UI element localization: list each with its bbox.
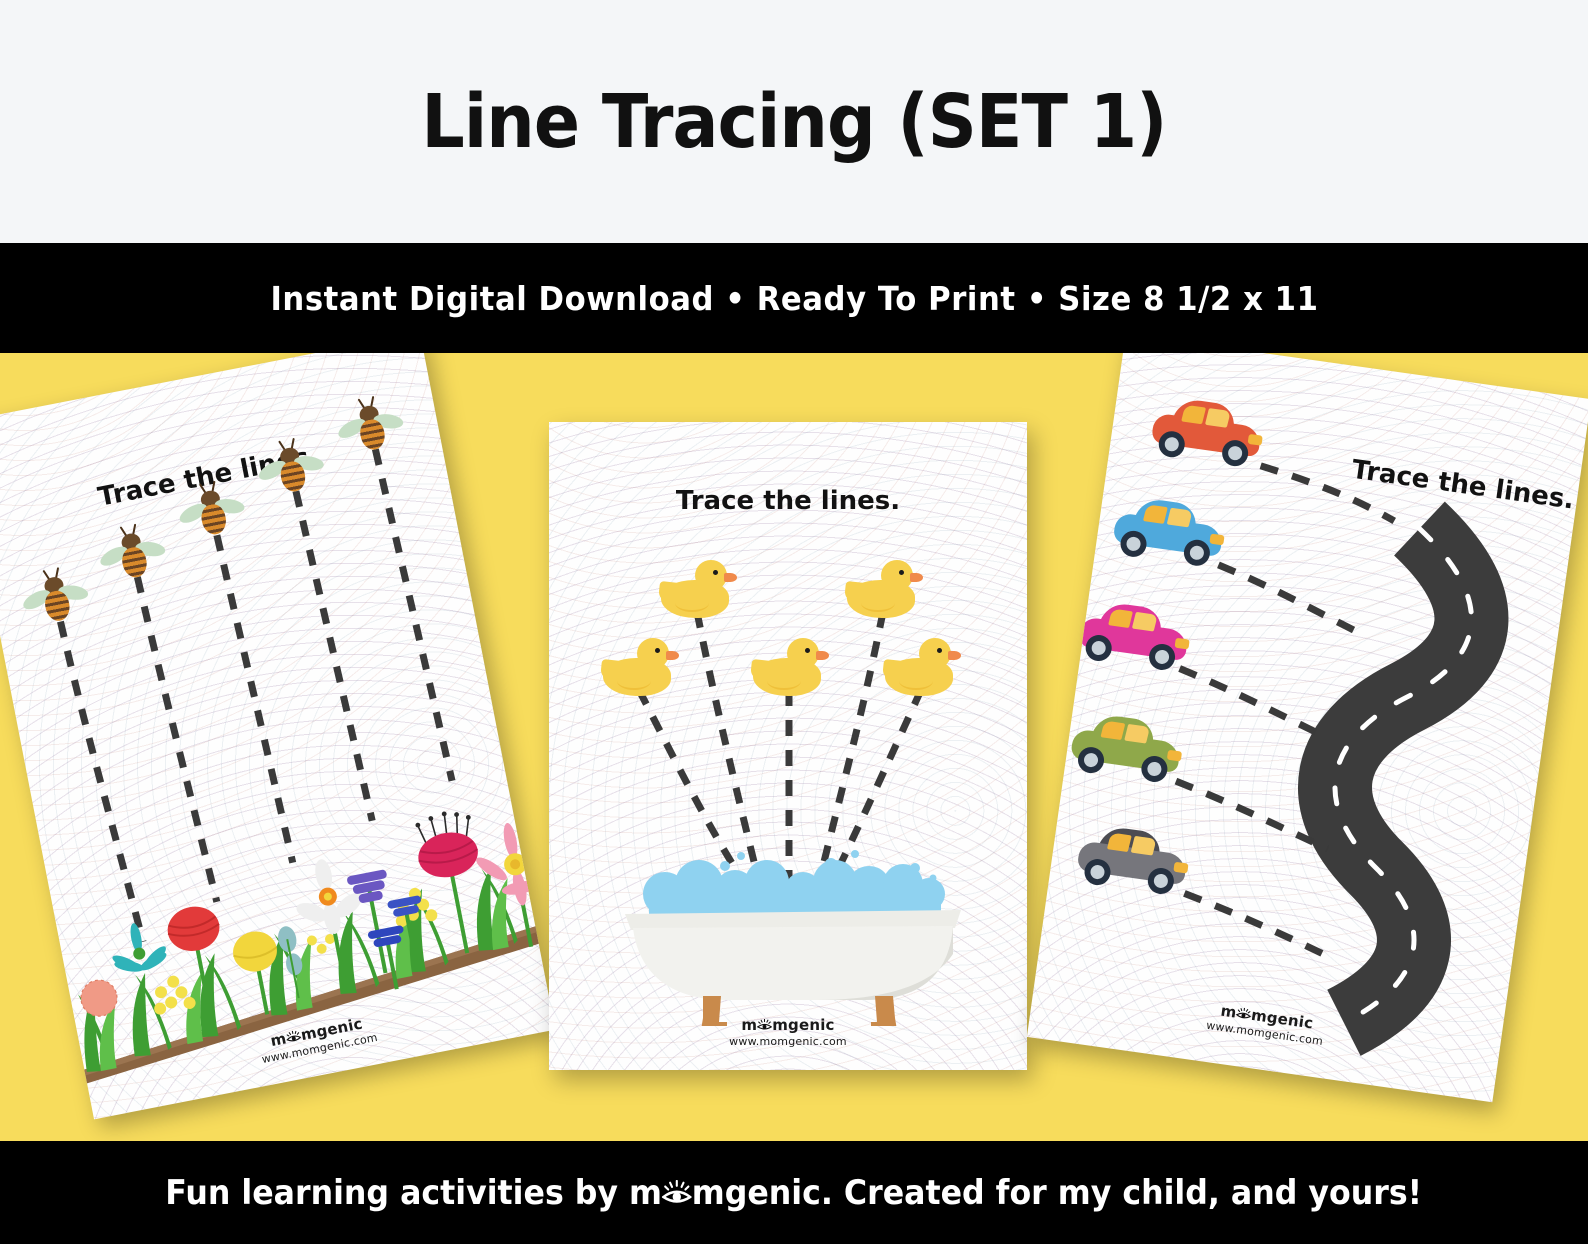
footer-text-before: Fun learning activities by m (166, 1173, 663, 1213)
duck-icon (753, 636, 827, 698)
brand-name-tail: mgenic (772, 1016, 834, 1034)
brand-name-head: m (741, 1016, 757, 1034)
footer-banner: Fun learning activities by m mgenic . Cr… (0, 1141, 1588, 1244)
eye-icon (662, 1180, 692, 1206)
eye-icon (757, 1019, 772, 1031)
duck-icon (661, 558, 735, 620)
brand-url: www.momgenic.com (549, 1035, 1027, 1048)
header-banner: Line Tracing (SET 1) (0, 0, 1588, 243)
product-listing-image: Line Tracing (SET 1) Instant Digital Dow… (0, 0, 1588, 1244)
worksheet-bees[interactable]: Trace the lines. (0, 353, 555, 1119)
page-title: Line Tracing (SET 1) (421, 79, 1166, 165)
footer-text-after: . Created for my child, and yours! (821, 1173, 1422, 1213)
duck-icon (847, 558, 921, 620)
worksheet-brand-ducks: m (549, 1015, 1027, 1048)
duck-icon (603, 636, 677, 698)
worksheet-ducks[interactable]: Trace the lines. (549, 422, 1027, 1070)
info-bar-text: Instant Digital Download • Ready To Prin… (270, 279, 1318, 318)
footer-brand-tail: mgenic (692, 1173, 821, 1213)
worksheet-cars[interactable]: Trace the lines. (1027, 353, 1588, 1102)
footer-text: Fun learning activities by m mgenic . Cr… (166, 1173, 1423, 1213)
worksheet-showcase-stage: Trace the lines. (0, 353, 1588, 1141)
info-bar: Instant Digital Download • Ready To Prin… (0, 243, 1588, 353)
bathtub-illustration (617, 850, 969, 1026)
duck-icon (885, 636, 959, 698)
